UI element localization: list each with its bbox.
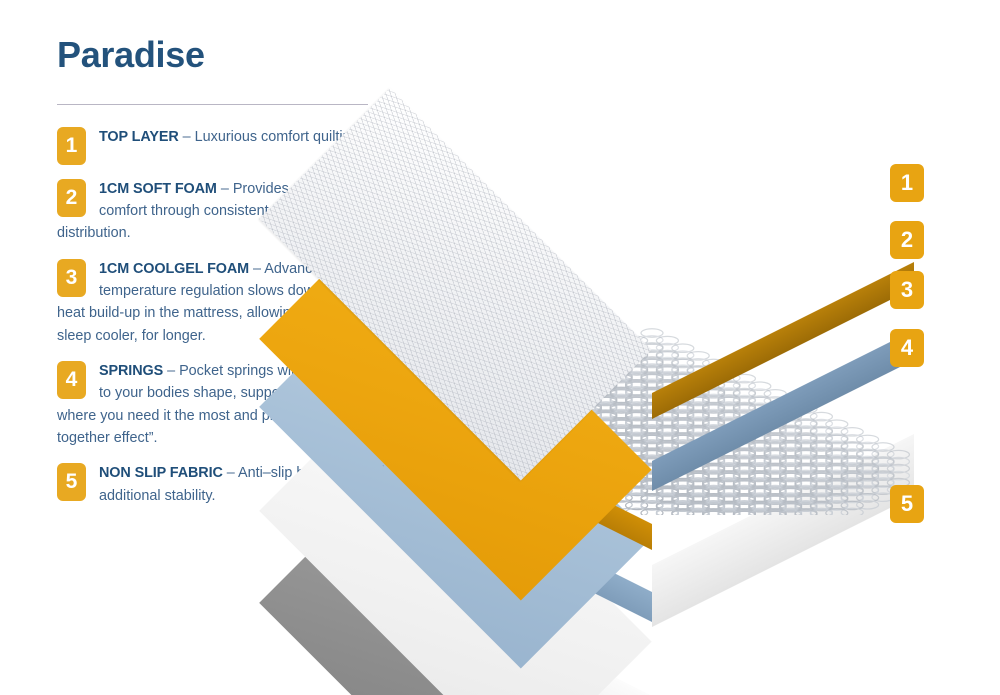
callout-badge-4: 4 [890, 329, 924, 367]
callout-badge-1: 1 [890, 164, 924, 202]
layer-title-2: 1CM SOFT FOAM [99, 181, 217, 197]
layer-badge-3: 3 [57, 259, 86, 297]
layer-description-1: TOP LAYER – Luxurious comfort quilting. [57, 126, 369, 148]
layer-dash-4: – [163, 363, 179, 379]
callout-badge-2: 2 [890, 221, 924, 259]
title-divider [57, 104, 368, 105]
callout-badge-3: 3 [890, 271, 924, 309]
layer-dash-1: – [179, 129, 195, 145]
layer-title-1: TOP LAYER [99, 129, 179, 145]
layer-stage: SleepSul Sleep Experience Series [380, 80, 940, 640]
layer-title-3: 1CM COOLGEL FOAM [99, 261, 249, 277]
layer-badge-2: 2 [57, 179, 86, 217]
mattress-layers-infographic: Paradise 1 TOP LAYER – Luxurious comfort… [0, 0, 1000, 695]
page-title: Paradise [57, 36, 369, 74]
callout-badge-5: 5 [890, 485, 924, 523]
layer-title-4: SPRINGS [99, 363, 163, 379]
layer-dash-5: – [223, 465, 238, 481]
layer-badge-5: 5 [57, 463, 86, 501]
layer-title-5: NON SLIP FABRIC [99, 465, 223, 481]
mattress-cutaway-illustration: SleepSul Sleep Experience Series [380, 80, 960, 640]
layer-badge-1: 1 [57, 127, 86, 165]
layer-dash-3: – [249, 261, 264, 277]
layer-dash-2: – [217, 181, 233, 197]
layer-badge-4: 4 [57, 361, 86, 399]
